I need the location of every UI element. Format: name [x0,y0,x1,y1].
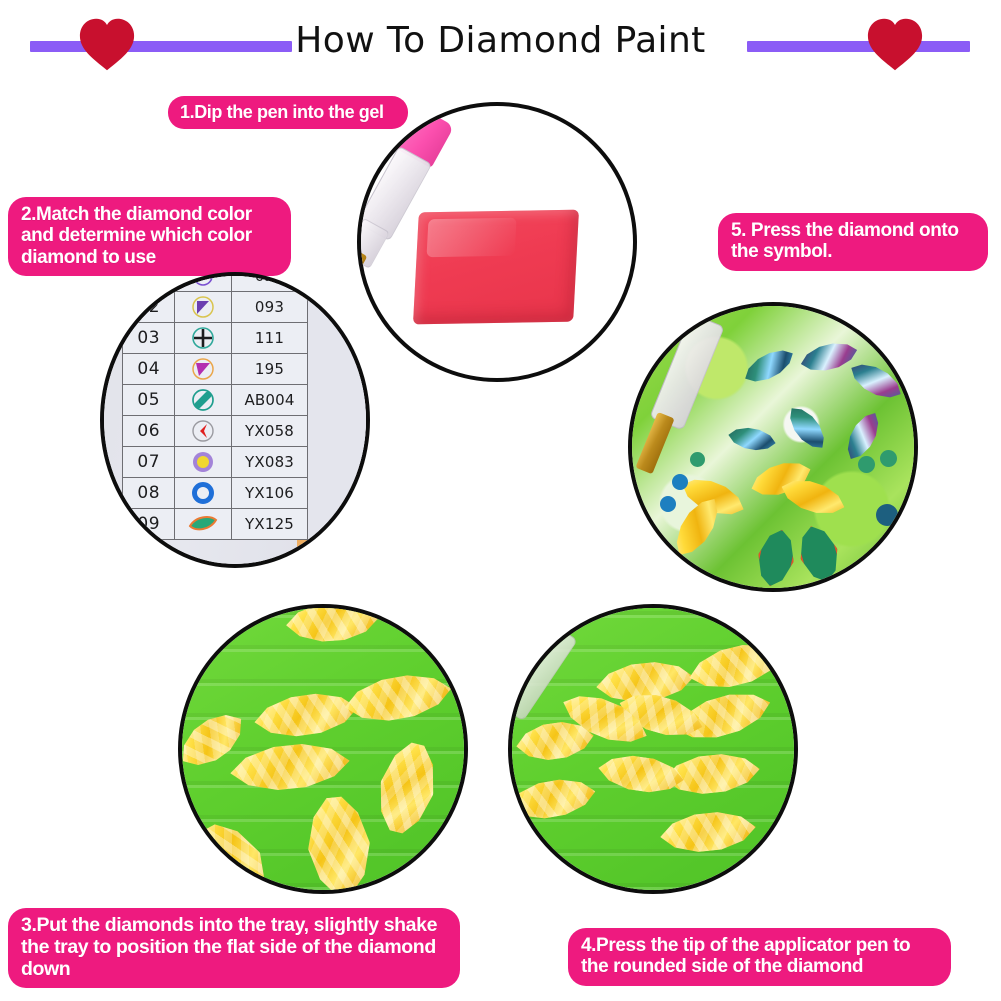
row-code: YX125 [232,509,308,540]
canvas-dot [660,496,676,512]
table-row: 08 YX106 [123,478,308,509]
row-code: 195 [232,354,308,385]
step-1-photo [357,102,637,382]
row-code: YX106 [232,478,308,509]
pen-tip [635,412,674,474]
row-index: 07 [123,447,175,478]
row-code: 111 [232,323,308,354]
teal-slash-icon [175,385,232,416]
table-row: 04 195 [123,354,308,385]
canvas-scene [632,306,914,588]
step-4-photo [508,604,798,894]
step-5-label: 5. Press the diamond onto the symbol. [718,213,988,271]
row-index: 09 [123,509,175,540]
header: How To Diamond Paint [0,0,1001,80]
step-2-label: 2.Match the diamond color and determine … [8,197,291,276]
color-chart-scene: 028 02 093 03 111 04 [104,276,366,564]
table-row: 03 111 [123,323,308,354]
gel-pad-scene [361,106,633,378]
row-index: 02 [123,292,175,323]
canvas-dot [672,474,688,490]
step-4-label: 4.Press the tip of the applicator pen to… [568,928,951,986]
green-leaf-icon [175,509,232,540]
row-index: 06 [123,416,175,447]
step-5-photo [628,302,918,592]
step-2-photo: 028 02 093 03 111 04 [100,272,370,568]
row-index: 03 [123,323,175,354]
purple-triangle-icon [175,292,232,323]
tray-scene [182,608,464,890]
row-code: YX058 [232,416,308,447]
plus-cross-icon [175,323,232,354]
table-row: 02 093 [123,292,308,323]
row-code: YX083 [232,447,308,478]
canvas-dot [858,456,875,473]
color-symbol-table: 028 02 093 03 111 04 [122,272,308,540]
infographic-canvas: How To Diamond Paint 1.Dip the pen into … [0,0,1001,1001]
yellow-dot-ring-icon [175,447,232,478]
row-index: 08 [123,478,175,509]
canvas-dot [690,452,705,467]
canvas-blank-area [307,276,370,564]
red-arrow-left-icon [175,416,232,447]
canvas-dot [876,504,898,526]
table-row: 05 AB004 [123,385,308,416]
table-row: 06 YX058 [123,416,308,447]
table-row: 09 YX125 [123,509,308,540]
row-index: 04 [123,354,175,385]
row-code: AB004 [232,385,308,416]
page-title: How To Diamond Paint [0,19,1001,63]
blue-ring-icon [175,478,232,509]
step-3-photo [178,604,468,894]
row-index: 05 [123,385,175,416]
magenta-triangle-icon [175,354,232,385]
table-row: 07 YX083 [123,447,308,478]
canvas-dot [880,450,897,467]
step-3-label: 3.Put the diamonds into the tray, slight… [8,908,460,988]
tray-pickup-scene [512,608,794,890]
row-code: 093 [232,292,308,323]
gel-pad [413,210,579,325]
